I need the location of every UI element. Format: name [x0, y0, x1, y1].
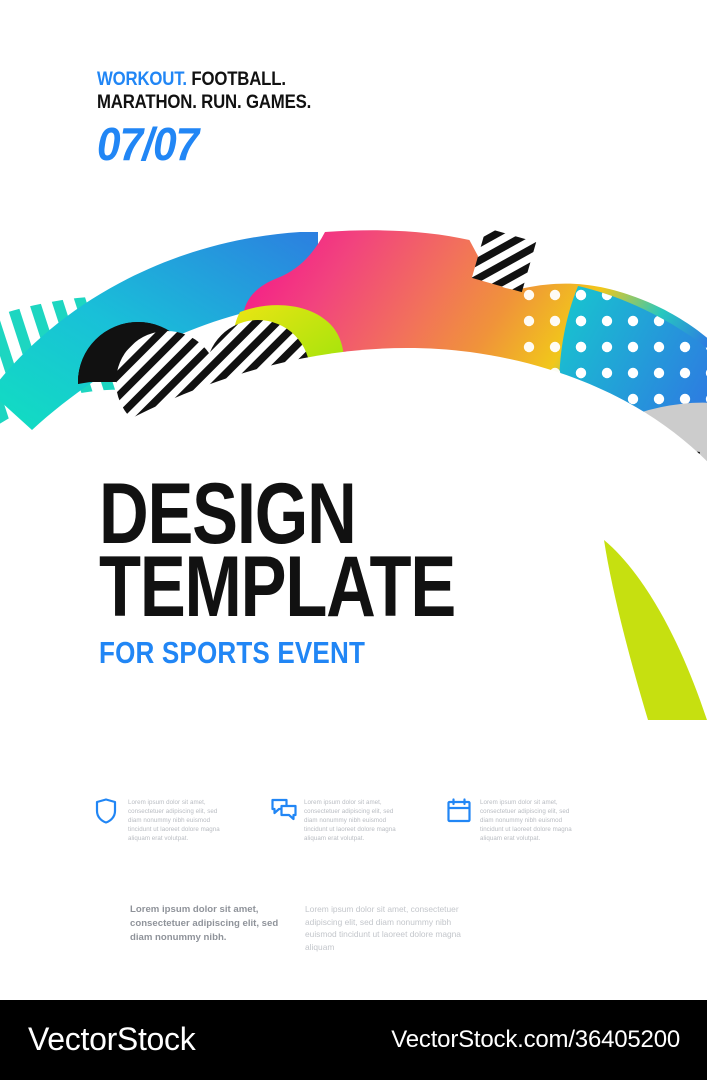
- arc-edge-lime: [604, 540, 707, 720]
- polka-dot-wedge: [559, 286, 707, 452]
- feature-columns: Lorem ipsum dolor sit amet, consectetuer…: [95, 798, 575, 843]
- title-block: DESIGN TEMPLATE FOR SPORTS EVENT: [99, 478, 544, 670]
- title-line-2: TEMPLATE: [99, 551, 455, 624]
- poster-canvas: WORKOUT. FOOTBALL. MARATHON. RUN. GAMES.…: [0, 0, 707, 1000]
- feature-item: Lorem ipsum dolor sit amet, consectetuer…: [95, 798, 223, 843]
- calendar-icon: [447, 798, 471, 824]
- feature-text: Lorem ipsum dolor sit amet, consectetuer…: [128, 798, 223, 843]
- watermark-bar: VectorStock VectorStock.com/36405200: [0, 1000, 707, 1080]
- feature-text: Lorem ipsum dolor sit amet, consectetuer…: [480, 798, 575, 843]
- striped-circle-1: [116, 331, 218, 433]
- kicker-highlight: WORKOUT.: [97, 68, 187, 90]
- kicker-rest: FOOTBALL.: [187, 68, 286, 90]
- gray-ellipse: [553, 384, 707, 539]
- watermark-url: VectorStock.com/36405200: [391, 1026, 680, 1054]
- shield-icon: [95, 798, 119, 824]
- lime-bottom-shape: [655, 498, 707, 700]
- striped-circle-2: [206, 320, 310, 424]
- lime-blob: [230, 305, 344, 432]
- bottom-light-paragraph: Lorem ipsum dolor sit amet, consectetuer…: [305, 903, 465, 953]
- watermark-brand: VectorStock: [28, 1021, 195, 1058]
- teal-stripe-band: [0, 296, 150, 430]
- striped-patch-bottom: [574, 438, 700, 590]
- left-gradient-arc: [0, 232, 318, 430]
- chat-bubbles-icon: [271, 798, 295, 824]
- striped-square-top: [472, 228, 536, 292]
- main-gradient-blob: [243, 230, 707, 488]
- bottom-bold-paragraph: Lorem ipsum dolor sit amet, consectetuer…: [130, 903, 280, 953]
- yellow-dot-patch: [510, 286, 593, 388]
- header-block: WORKOUT. FOOTBALL. MARATHON. RUN. GAMES.…: [97, 68, 517, 169]
- black-dome-fill: [78, 322, 198, 384]
- black-half-dome: [78, 322, 198, 384]
- event-date: 07/07: [97, 119, 483, 169]
- kicker-line-1: WORKOUT. FOOTBALL.: [97, 68, 458, 91]
- kicker-line-2: MARATHON. RUN. GAMES.: [97, 91, 458, 114]
- feature-text: Lorem ipsum dolor sit amet, consectetuer…: [304, 798, 399, 843]
- feature-item: Lorem ipsum dolor sit amet, consectetuer…: [271, 798, 399, 843]
- title-subtitle: FOR SPORTS EVENT: [99, 636, 473, 670]
- feature-item: Lorem ipsum dolor sit amet, consectetuer…: [447, 798, 575, 843]
- bottom-paragraphs: Lorem ipsum dolor sit amet, consectetuer…: [130, 903, 550, 953]
